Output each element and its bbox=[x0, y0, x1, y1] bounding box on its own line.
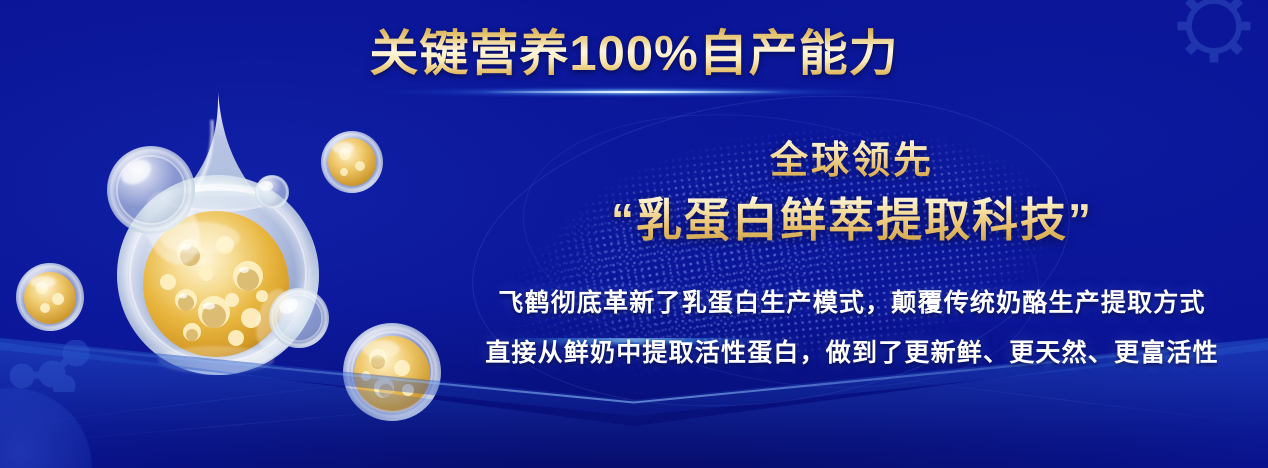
headline-secondary: “乳蛋白鲜萃提取科技” bbox=[452, 192, 1252, 248]
title-glow-core bbox=[484, 91, 784, 93]
body-line-1: 飞鹤彻底革新了乳蛋白生产模式，颠覆传统奶酪生产提取方式 bbox=[452, 278, 1252, 328]
body-line-2: 直接从鲜奶中提取活性蛋白，做到了更新鲜、更天然、更富活性 bbox=[452, 328, 1252, 378]
headline-primary: 全球领先 bbox=[452, 138, 1252, 186]
page-title: 关键营养100%自产能力 bbox=[0, 26, 1268, 83]
promo-banner: 关键营养100%自产能力 全球领先 “乳蛋白鲜萃提取科技” 飞鹤彻底革新了乳蛋白… bbox=[0, 0, 1268, 468]
body-text-group: 飞鹤彻底革新了乳蛋白生产模式，颠覆传统奶酪生产提取方式 直接从鲜奶中提取活性蛋白… bbox=[452, 278, 1252, 378]
headline-group: 全球领先 “乳蛋白鲜萃提取科技” bbox=[452, 138, 1252, 248]
